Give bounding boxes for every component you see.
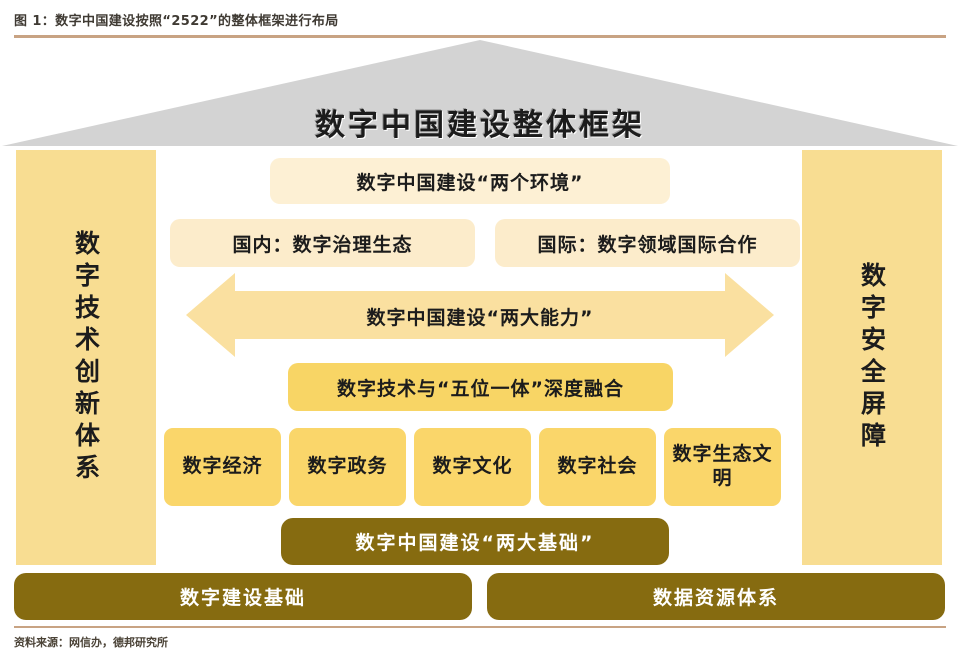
environments-title-box: 数字中国建设“两个环境”: [270, 158, 670, 204]
figure-container: 图 1：数字中国建设按照“2522”的整体框架进行布局 数字中国建设整体框架 数…: [0, 0, 960, 663]
category-box-2: 数字政务: [289, 428, 406, 506]
diagram-main-title: 数字中国建设整体框架: [0, 100, 960, 144]
left-pillar-label: 数字技术创新体系: [74, 230, 99, 486]
left-pillar: 数字技术创新体系: [16, 150, 156, 565]
category-box-3: 数字文化: [414, 428, 531, 506]
right-pillar-label: 数字安全屏障: [860, 262, 885, 454]
source-note: 资料来源：网信办，德邦研究所: [14, 634, 168, 650]
category-box-1: 数字经济: [164, 428, 281, 506]
capabilities-title-label: 数字中国建设“两大能力”: [186, 303, 774, 330]
footer-divider: [14, 626, 946, 628]
foundations-title-box: 数字中国建设“两大基础”: [281, 518, 669, 565]
category-box-4: 数字社会: [539, 428, 656, 506]
figure-caption: 图 1：数字中国建设按照“2522”的整体框架进行布局: [14, 10, 339, 29]
environment-domestic-box: 国内：数字治理生态: [170, 219, 475, 267]
category-box-5: 数字生态文明: [664, 428, 781, 506]
foundation-left-box: 数字建设基础: [14, 573, 472, 620]
fusion-box: 数字技术与“五位一体”深度融合: [288, 363, 673, 411]
foundation-right-box: 数据资源体系: [487, 573, 945, 620]
right-pillar: 数字安全屏障: [802, 150, 942, 565]
environment-international-box: 国际：数字领域国际合作: [495, 219, 800, 267]
